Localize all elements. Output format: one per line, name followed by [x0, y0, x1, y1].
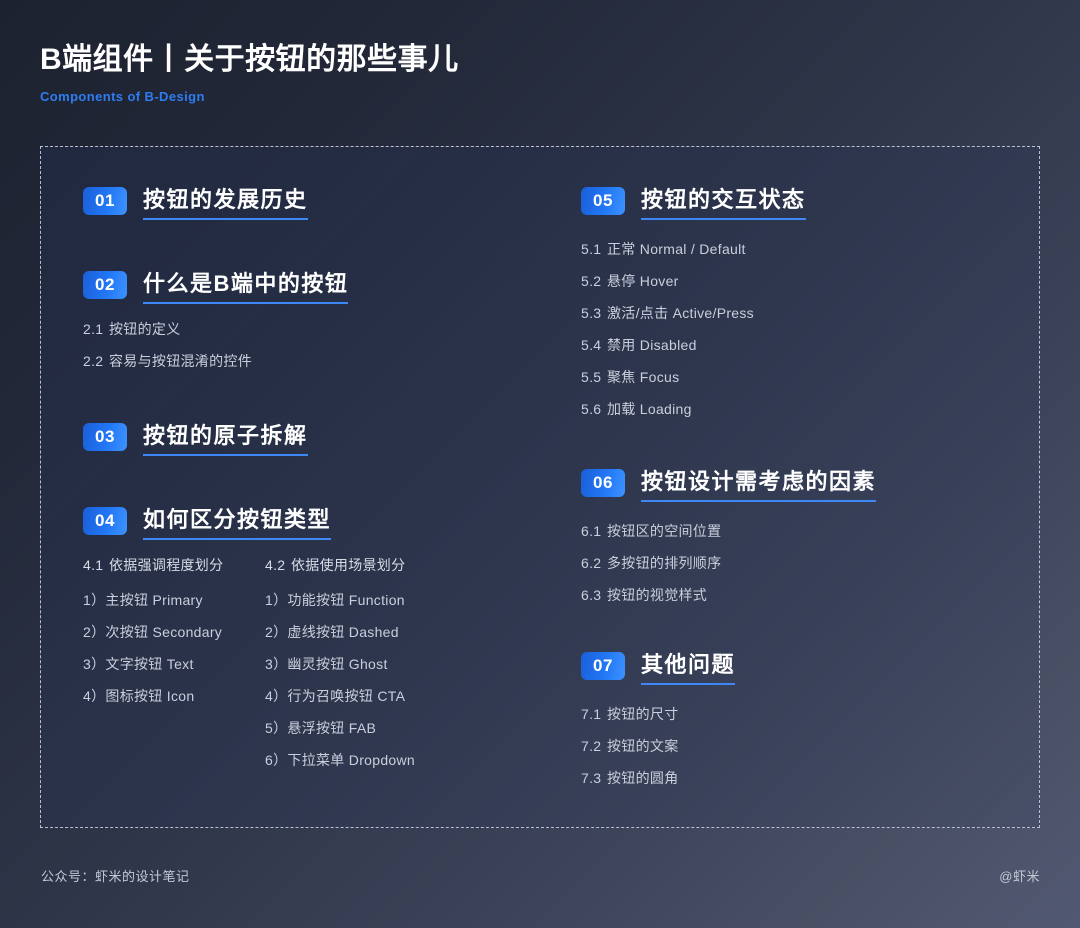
section-number-badge: 05	[581, 187, 625, 215]
subitem-label: 按钮的圆角	[607, 770, 679, 786]
subitem-label: 多按钮的排列顺序	[607, 555, 721, 571]
section-title-wrap: 按钮的交互状态	[641, 185, 806, 220]
subitem-number: 4）	[83, 689, 105, 703]
subitem-number: 7.1	[581, 707, 607, 721]
subitem-number: 3）	[265, 657, 287, 671]
subitem-number: 6.1	[581, 524, 607, 538]
subitem-label: 下拉菜单 Dropdown	[287, 752, 415, 768]
section-title: 如何区分按钮类型	[143, 505, 331, 535]
list-item[interactable]: 7.1按钮的尺寸	[581, 707, 735, 721]
section-underline	[143, 538, 331, 540]
subitem-label: 禁用 Disabled	[607, 337, 697, 353]
section-title: 按钮的原子拆解	[143, 421, 308, 451]
list-item[interactable]: 5.3激活/点击 Active/Press	[581, 306, 806, 320]
section-title: 其他问题	[641, 650, 735, 680]
list-item[interactable]: 2）虚线按钮 Dashed	[265, 625, 415, 639]
list-item[interactable]: 1）功能按钮 Function	[265, 593, 415, 607]
subitem-label: 聚焦 Focus	[607, 369, 679, 385]
section-underline	[143, 302, 348, 304]
section-number-badge: 04	[83, 507, 127, 535]
subitem-number: 1）	[83, 593, 105, 607]
subitem-label: 按钮的尺寸	[607, 706, 679, 722]
section-header[interactable]: 04 如何区分按钮类型	[83, 505, 331, 540]
subitem-label: 功能按钮 Function	[287, 592, 405, 608]
section-subitems: 5.1正常 Normal / Default 5.2悬停 Hover 5.3激活…	[581, 242, 806, 416]
subitem-label: 文字按钮 Text	[105, 656, 193, 672]
list-item[interactable]: 6.1按钮区的空间位置	[581, 524, 876, 538]
subitem-number: 4.1	[83, 558, 109, 572]
subitem-number: 5.6	[581, 402, 607, 416]
subitem-group-header[interactable]: 4.2依据使用场景划分	[265, 558, 415, 572]
list-item[interactable]: 2.2容易与按钮混淆的控件	[83, 354, 348, 368]
subitem-number: 5.3	[581, 306, 607, 320]
subitem-group-4-2: 4.2依据使用场景划分 1）功能按钮 Function 2）虚线按钮 Dashe…	[265, 558, 415, 785]
subitem-label: 依据使用场景划分	[291, 557, 405, 573]
list-item[interactable]: 3）文字按钮 Text	[83, 657, 223, 671]
section-underline	[641, 500, 876, 502]
subitem-label: 图标按钮 Icon	[105, 688, 194, 704]
subitem-number: 5.1	[581, 242, 607, 256]
list-item[interactable]: 5.1正常 Normal / Default	[581, 242, 806, 256]
section-header[interactable]: 05 按钮的交互状态	[581, 185, 806, 220]
section-header[interactable]: 07 其他问题	[581, 650, 735, 685]
section-number-badge: 06	[581, 469, 625, 497]
subitem-label: 正常 Normal / Default	[607, 241, 746, 257]
section-number-badge: 02	[83, 271, 127, 299]
footer-account: 公众号：虾米的设计笔记	[41, 866, 190, 885]
subitem-group-4-1: 4.1依据强调程度划分 1）主按钮 Primary 2）次按钮 Secondar…	[83, 558, 223, 721]
subitem-number: 2.1	[83, 322, 109, 336]
subitem-number: 1）	[265, 593, 287, 607]
list-item[interactable]: 6.2多按钮的排列顺序	[581, 556, 876, 570]
section-title: 按钮设计需考虑的因素	[641, 467, 876, 497]
list-item[interactable]: 4）图标按钮 Icon	[83, 689, 223, 703]
subitem-number: 5.2	[581, 274, 607, 288]
section-subitems: 7.1按钮的尺寸 7.2按钮的文案 7.3按钮的圆角	[581, 707, 735, 785]
toc-section-03[interactable]: 03 按钮的原子拆解	[83, 421, 308, 456]
subitem-number: 7.3	[581, 771, 607, 785]
list-item[interactable]: 5.5聚焦 Focus	[581, 370, 806, 384]
section-underline	[143, 454, 308, 456]
subitem-label: 主按钮 Primary	[105, 592, 202, 608]
page-title: B端组件丨关于按钮的那些事儿	[40, 42, 459, 78]
subitem-number: 7.2	[581, 739, 607, 753]
section-underline	[641, 218, 806, 220]
list-item[interactable]: 5.6加载 Loading	[581, 402, 806, 416]
toc-section-04[interactable]: 04 如何区分按钮类型 4.1依据强调程度划分 1）主按钮 Primary	[83, 505, 331, 808]
subitem-label: 加载 Loading	[607, 401, 692, 417]
subitem-label: 次按钮 Secondary	[105, 624, 222, 640]
list-item[interactable]: 6.3按钮的视觉样式	[581, 588, 876, 602]
section-title-wrap: 按钮的发展历史	[143, 185, 308, 220]
subitem-number: 5）	[265, 721, 287, 735]
subitem-label: 悬停 Hover	[607, 273, 679, 289]
subitem-number: 2.2	[83, 354, 109, 368]
subitem-label: 依据强调程度划分	[109, 557, 223, 573]
toc-section-01[interactable]: 01 按钮的发展历史	[83, 185, 308, 220]
toc-section-05[interactable]: 05 按钮的交互状态 5.1正常 Normal / Default 5.2悬停 …	[581, 185, 806, 416]
list-item[interactable]: 4）行为召唤按钮 CTA	[265, 689, 415, 703]
section-number-badge: 07	[581, 652, 625, 680]
section-header[interactable]: 06 按钮设计需考虑的因素	[581, 467, 876, 502]
subitem-label: 虚线按钮 Dashed	[287, 624, 398, 640]
section-title: 按钮的发展历史	[143, 185, 308, 215]
subitem-label: 容易与按钮混淆的控件	[109, 353, 252, 369]
section-number-badge: 01	[83, 187, 127, 215]
subitem-number: 6.2	[581, 556, 607, 570]
footer-handle: @虾米	[999, 866, 1040, 885]
subitem-number: 6）	[265, 753, 287, 767]
toc-section-07[interactable]: 07 其他问题 7.1按钮的尺寸 7.2按钮的文案 7.3按钮的圆角	[581, 650, 735, 785]
subitem-label: 按钮的文案	[607, 738, 679, 754]
section-header[interactable]: 02 什么是B端中的按钮	[83, 269, 348, 304]
list-item[interactable]: 3）幽灵按钮 Ghost	[265, 657, 415, 671]
section-subitems: 2.1按钮的定义 2.2容易与按钮混淆的控件	[83, 322, 348, 368]
subitem-number: 2）	[83, 625, 105, 639]
section-header[interactable]: 03 按钮的原子拆解	[83, 421, 308, 456]
list-item[interactable]: 5.2悬停 Hover	[581, 274, 806, 288]
toc-section-06[interactable]: 06 按钮设计需考虑的因素 6.1按钮区的空间位置 6.2多按钮的排列顺序 6.…	[581, 467, 876, 602]
subitem-number: 4.2	[265, 558, 291, 572]
subitem-number: 2）	[265, 625, 287, 639]
subitem-label: 按钮区的空间位置	[607, 523, 721, 539]
subitem-label: 按钮的定义	[109, 321, 181, 337]
subitem-number: 4）	[265, 689, 287, 703]
section-number-badge: 03	[83, 423, 127, 451]
list-item[interactable]: 2）次按钮 Secondary	[83, 625, 223, 639]
section-title: 什么是B端中的按钮	[143, 269, 348, 299]
section-title-wrap: 什么是B端中的按钮	[143, 269, 348, 304]
subitem-label: 行为召唤按钮 CTA	[287, 688, 405, 704]
subitem-label: 按钮的视觉样式	[607, 587, 707, 603]
section-title-wrap: 按钮设计需考虑的因素	[641, 467, 876, 502]
section-title-wrap: 其他问题	[641, 650, 735, 685]
list-item[interactable]: 1）主按钮 Primary	[83, 593, 223, 607]
content-panel: 01 按钮的发展历史 02 什么是B端中的按钮	[40, 146, 1040, 828]
list-item[interactable]: 7.3按钮的圆角	[581, 771, 735, 785]
list-item[interactable]: 2.1按钮的定义	[83, 322, 348, 336]
page-subtitle: Components of B-Design	[40, 89, 459, 104]
header: B端组件丨关于按钮的那些事儿 Components of B-Design	[40, 42, 459, 104]
section-subitems: 6.1按钮区的空间位置 6.2多按钮的排列顺序 6.3按钮的视觉样式	[581, 524, 876, 602]
subitem-number: 5.4	[581, 338, 607, 352]
list-item[interactable]: 5）悬浮按钮 FAB	[265, 721, 415, 735]
section-header[interactable]: 01 按钮的发展历史	[83, 185, 308, 220]
subitem-label: 悬浮按钮 FAB	[287, 720, 376, 736]
subitem-label: 幽灵按钮 Ghost	[287, 656, 387, 672]
subitem-label: 激活/点击 Active/Press	[607, 305, 754, 321]
section-title: 按钮的交互状态	[641, 185, 806, 215]
list-item[interactable]: 7.2按钮的文案	[581, 739, 735, 753]
section-title-wrap: 按钮的原子拆解	[143, 421, 308, 456]
slide-root: B端组件丨关于按钮的那些事儿 Components of B-Design 01…	[0, 0, 1080, 928]
subitem-number: 6.3	[581, 588, 607, 602]
list-item[interactable]: 6）下拉菜单 Dropdown	[265, 753, 415, 767]
section-subitem-groups: 4.1依据强调程度划分 1）主按钮 Primary 2）次按钮 Secondar…	[83, 558, 331, 808]
section-underline	[143, 218, 308, 220]
subitem-number: 3）	[83, 657, 105, 671]
list-item[interactable]: 5.4禁用 Disabled	[581, 338, 806, 352]
subitem-group-header[interactable]: 4.1依据强调程度划分	[83, 558, 223, 572]
section-underline	[641, 683, 735, 685]
toc-section-02[interactable]: 02 什么是B端中的按钮 2.1按钮的定义 2.2容易与按钮混淆的控件	[83, 269, 348, 386]
subitem-number: 5.5	[581, 370, 607, 384]
section-title-wrap: 如何区分按钮类型	[143, 505, 331, 540]
